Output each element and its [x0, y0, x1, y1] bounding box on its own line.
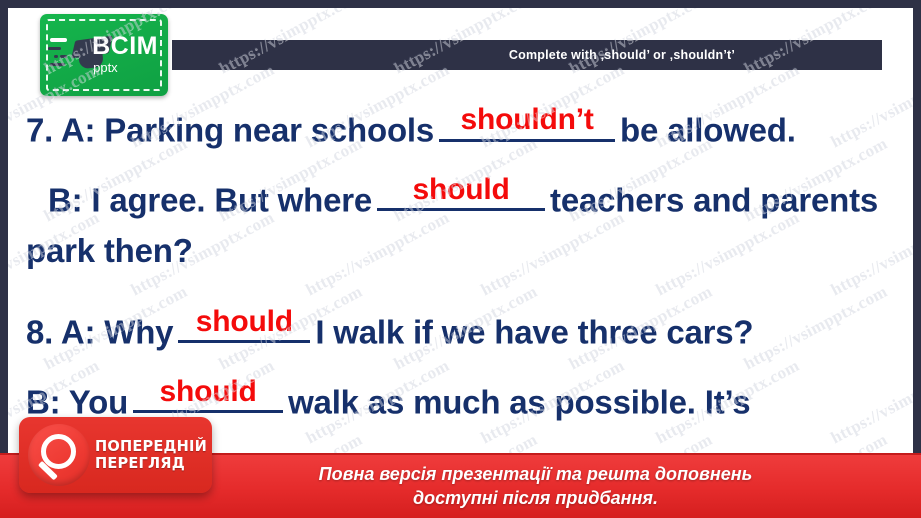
answer-value-3: should	[178, 299, 310, 345]
item-7a-text-after2: allowed.	[667, 112, 796, 149]
item-7a-text-after: be	[620, 112, 658, 149]
item-7a-text-before: 7. A: Parking near schools	[26, 112, 434, 149]
answer-value-1: shouldn’t	[439, 97, 615, 143]
answer-blank-2[interactable]: should	[377, 174, 545, 212]
item-7b-text-after: teachers and	[550, 181, 751, 218]
item-8a-text-after: I walk if we have three cars?	[315, 313, 753, 350]
preview-badge[interactable]: ПОПЕРЕДНІЙ ПЕРЕГЛЯД	[19, 417, 212, 493]
banner-line-1: Повна версія презентації та решта доповн…	[319, 463, 753, 486]
answer-blank-1[interactable]: shouldn’t	[439, 104, 615, 142]
slide-title-bar: Complete with ‚should’ or ‚shouldn’t’	[172, 40, 882, 70]
item-8a-text-before: 8. A: Why	[26, 313, 173, 350]
banner-line-2: доступні після придбання.	[319, 487, 753, 510]
page-title: Complete with ‚should’ or ‚shouldn’t’	[319, 48, 735, 62]
answer-blank-4[interactable]: should	[133, 376, 283, 414]
purchase-banner-message: Повна версія презентації та решта доповн…	[319, 463, 753, 510]
logo-wordmark: BCIM pptx	[92, 34, 158, 74]
preview-badge-line-2: ПЕРЕГЛЯД	[95, 455, 207, 472]
exercise-item-7b: B: I agree. But whereshouldteachers and …	[26, 174, 906, 276]
item-8b-text-before: B: You	[26, 383, 128, 420]
answer-blank-3[interactable]: should	[178, 306, 310, 344]
answer-value-4: should	[133, 369, 283, 415]
logo-name: BCIM	[92, 34, 158, 59]
item-8b-text-after: walk as much as possible. It’s	[288, 383, 750, 420]
item-7b-text-before: B: I agree. But where	[48, 181, 372, 218]
logo-subtitle: pptx	[93, 61, 158, 74]
preview-badge-line-1: ПОПЕРЕДНІЙ	[95, 438, 207, 455]
magnifier-icon	[28, 424, 90, 486]
preview-badge-label: ПОПЕРЕДНІЙ ПЕРЕГЛЯД	[95, 438, 214, 471]
exercise-item-7a: 7. A: Parking near schoolsshouldn’tbe al…	[26, 104, 906, 156]
bcim-pptx-logo: BCIM pptx	[40, 14, 168, 96]
answer-value-2: should	[377, 167, 545, 213]
exercise-item-8a: 8. A: WhyshouldI walk if we have three c…	[26, 306, 906, 358]
